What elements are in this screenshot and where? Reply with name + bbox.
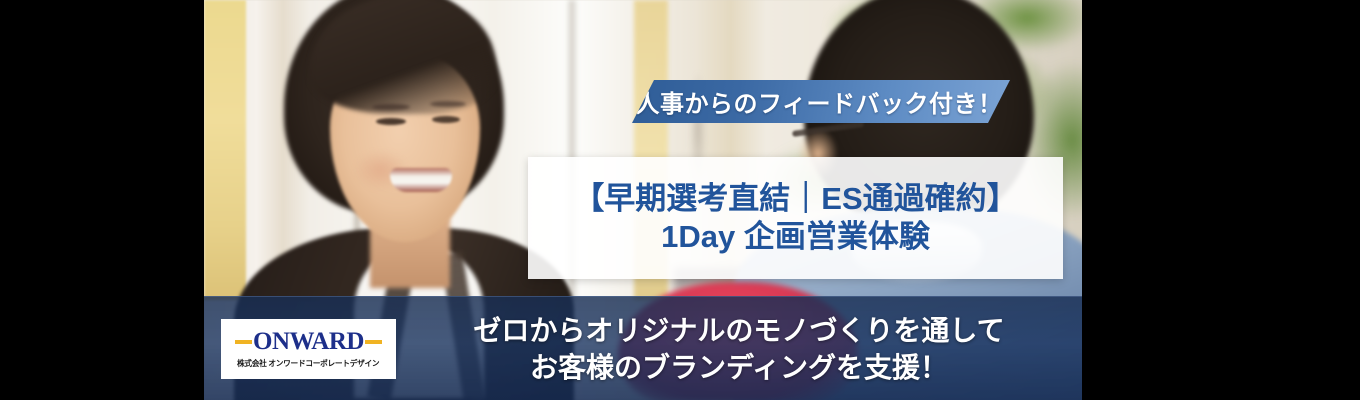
person-front-eye-right	[432, 116, 460, 123]
title-card: 【早期選考直結｜ES通過確約】 1Day 企画営業体験	[528, 157, 1063, 279]
title-line-secondary: 1Day 企画営業体験	[661, 219, 930, 255]
onward-logo: ONWARD 株式会社 オンワードコーポレートデザイン	[221, 319, 396, 379]
tagline-line-2: お客様のブランディングを支援！	[530, 351, 948, 385]
hero-image-area: 人事からのフィードバック付き！ 【早期選考直結｜ES通過確約】 1Day 企画営…	[204, 0, 1082, 400]
wall-panel-yellow-left	[204, 0, 246, 300]
person-front-fringe	[310, 0, 496, 114]
person-front-eyebrow-right	[430, 101, 466, 107]
feedback-badge: 人事からのフィードバック付き！	[632, 80, 1010, 123]
banner-tagline: ゼロからオリジナルのモノづくりを通して お客様のブランディングを支援！	[404, 307, 1074, 392]
person-front-smile	[390, 168, 452, 192]
tagline-line-1: ゼロからオリジナルのモノづくりを通して	[473, 314, 1004, 348]
letterbox-bar-right	[1082, 0, 1360, 400]
bottom-banner: ONWARD 株式会社 オンワードコーポレートデザイン ゼロからオリジナルのモノ…	[204, 296, 1082, 400]
person-front-eye-left	[376, 118, 406, 125]
feedback-badge-label: 人事からのフィードバック付き！	[635, 84, 1002, 119]
onward-company-name: 株式会社 オンワードコーポレートデザイン	[237, 358, 379, 369]
onward-wordmark: ONWARD	[253, 329, 364, 354]
logo-accent-bar-left	[235, 340, 252, 344]
logo-accent-bar-right	[365, 340, 382, 344]
person-front-eyebrow-left	[372, 104, 410, 110]
onward-wordmark-row: ONWARD	[221, 329, 396, 354]
banner-stage: 人事からのフィードバック付き！ 【早期選考直結｜ES通過確約】 1Day 企画営…	[0, 0, 1360, 400]
letterbox-bar-left	[0, 0, 204, 400]
title-line-primary: 【早期選考直結｜ES通過確約】	[573, 181, 1017, 217]
